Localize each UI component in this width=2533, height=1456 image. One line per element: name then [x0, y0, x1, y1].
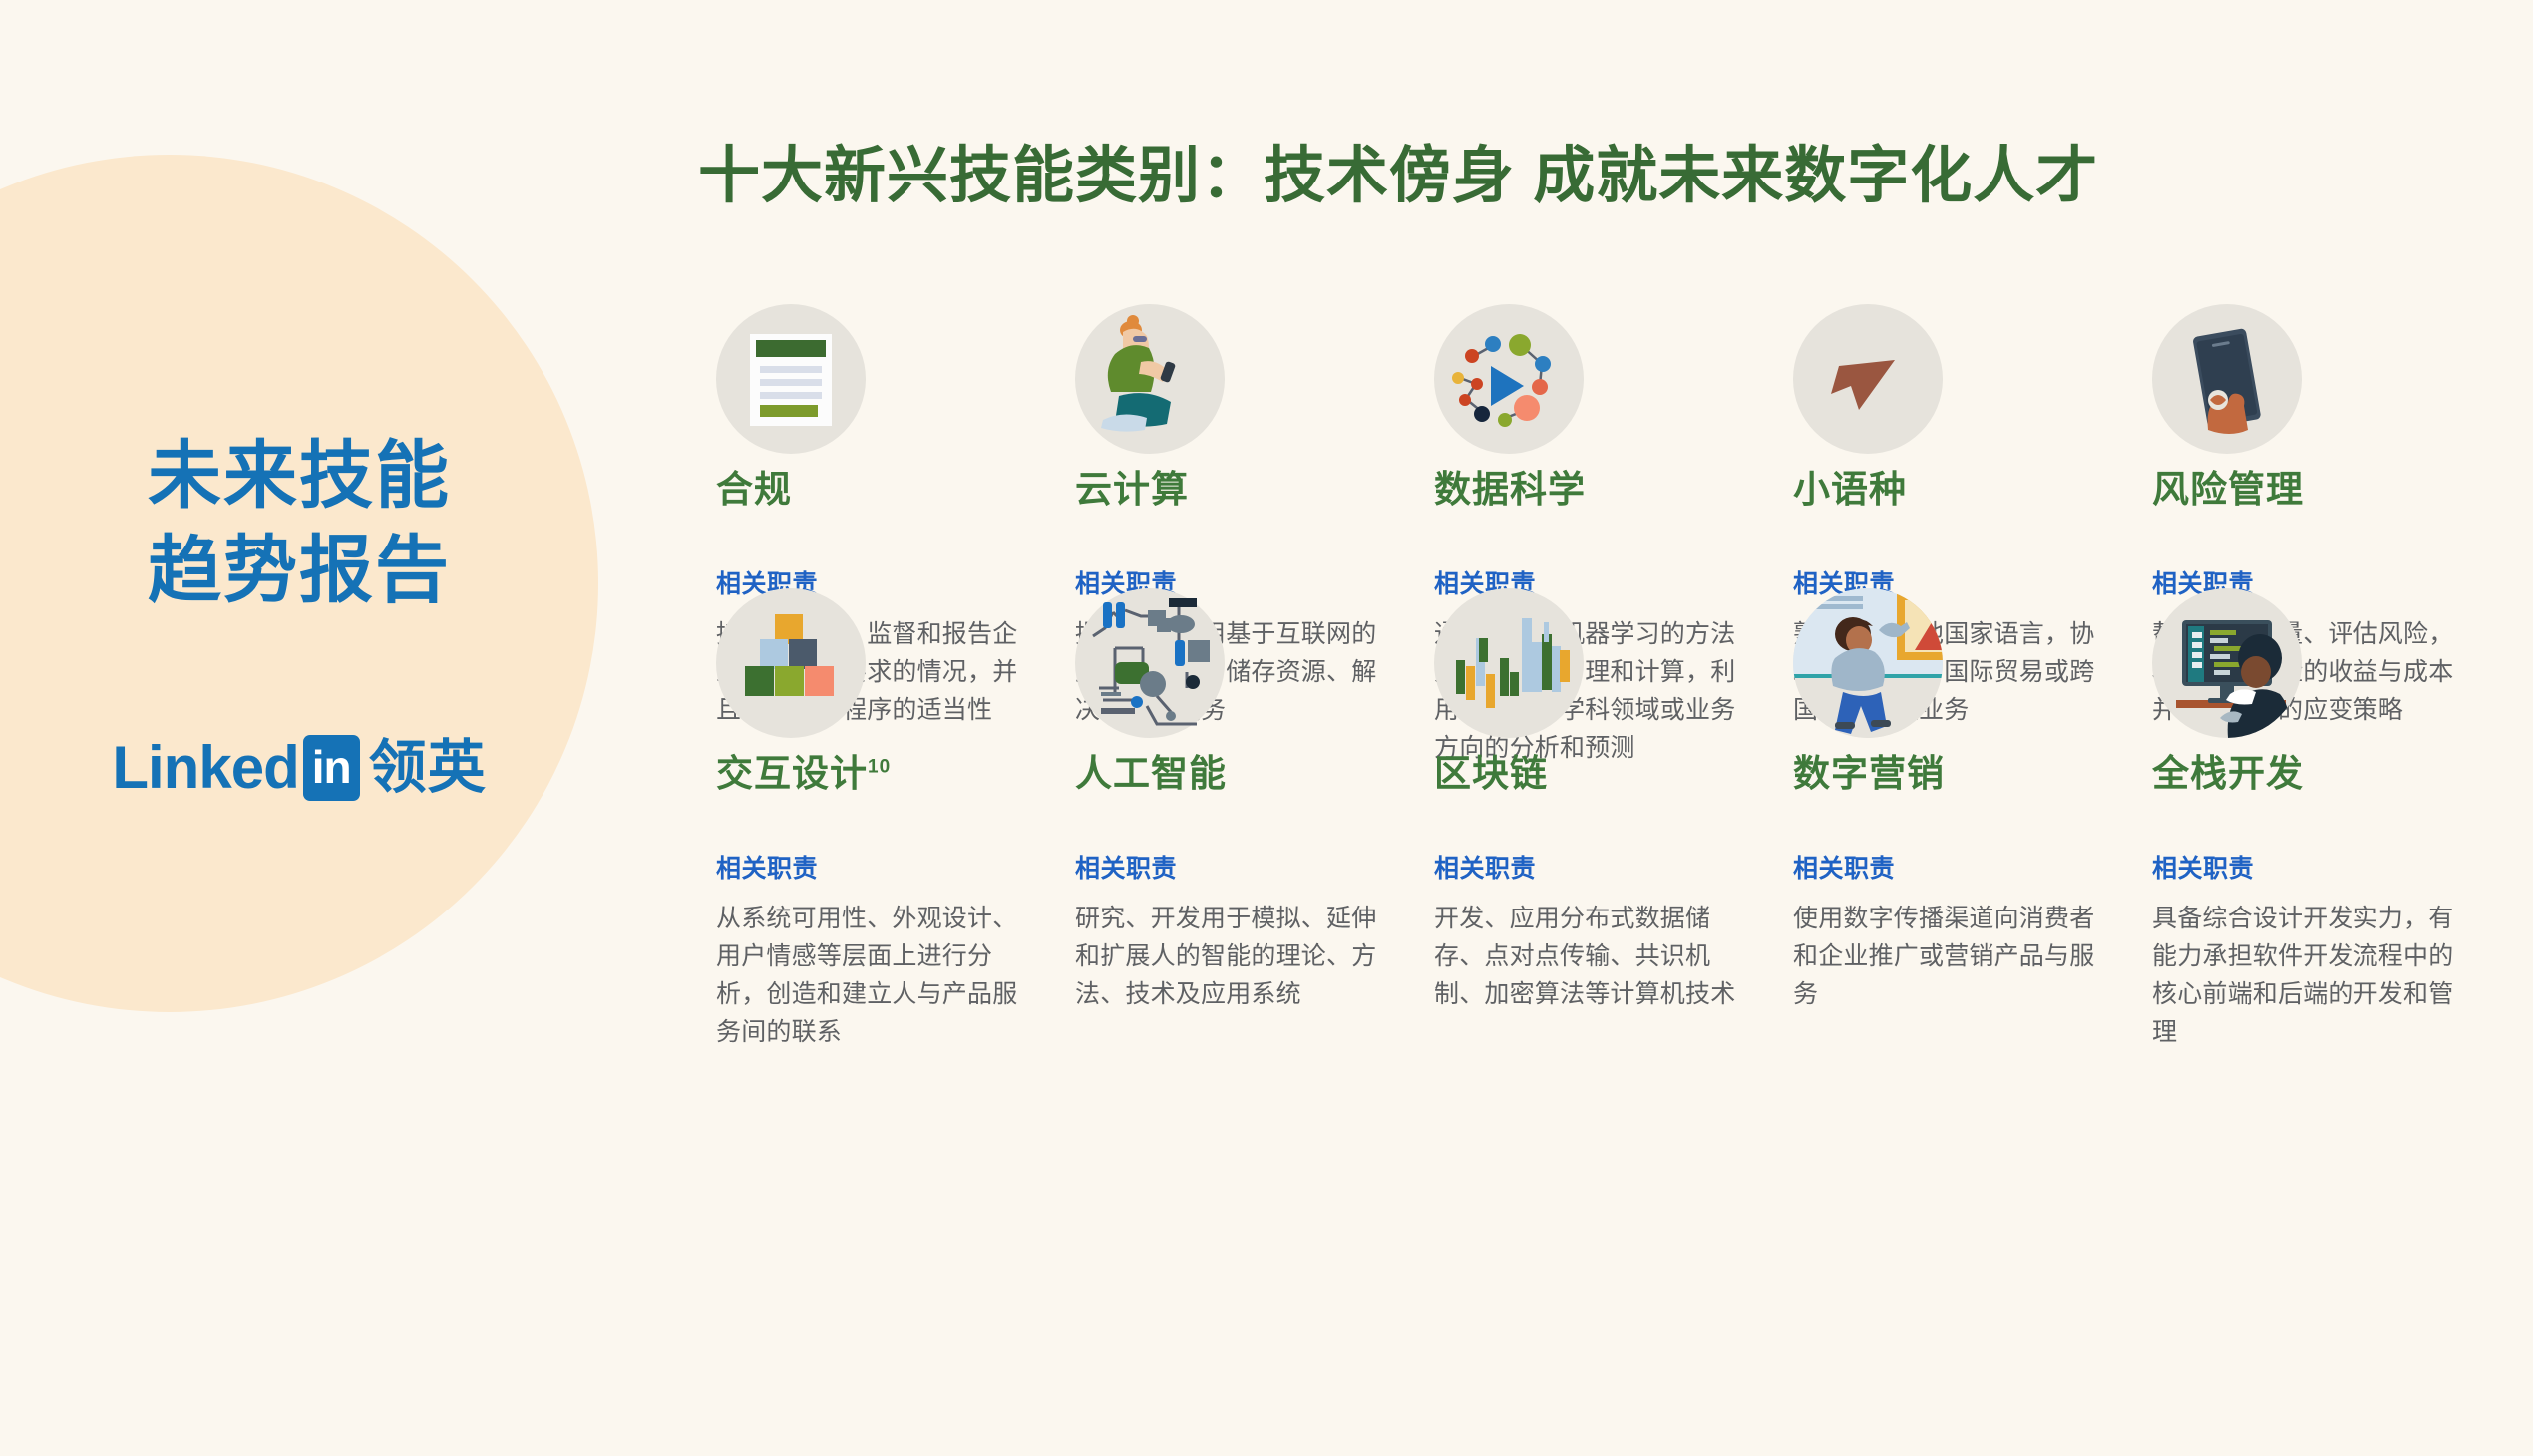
skill-title: 交互设计10	[716, 754, 1055, 795]
linkedin-wordmark: Linked	[112, 738, 298, 798]
skill-title: 人工智能	[1075, 754, 1414, 795]
slide-heading: 十大新兴技能类别：技术傍身 成就未来数字化人才	[698, 125, 2453, 214]
responsibilities-label: 相关职责	[2152, 849, 2491, 885]
network-play-icon	[1434, 304, 1584, 454]
hand-phone-icon	[2152, 304, 2302, 454]
skill-title: 区块链	[1434, 754, 1773, 795]
linkedin-in-badge-icon: in	[303, 735, 360, 801]
responsibilities-label: 相关职责	[1434, 849, 1773, 885]
skill-card-minor-languages[interactable]: 小语种 相关职责 熟练掌握其他国家语言，协助开展外交、国际贸易或跨国公司治理业务	[1793, 304, 2132, 588]
report-title-line-1: 未来技能	[0, 429, 598, 524]
page-title: 未来技能 趋势报告	[0, 429, 598, 617]
skill-title: 数据科学	[1434, 470, 1773, 511]
responsibilities-label: 相关职责	[716, 849, 1055, 885]
skill-title: 云计算	[1075, 470, 1414, 511]
responsibilities-body: 使用数字传播渠道向消费者和企业推广或营销产品与服务	[1793, 900, 2102, 1013]
cursor-arrow-icon	[1793, 304, 1943, 454]
person-reading-icon	[1075, 304, 1225, 454]
skill-title: 合规	[716, 470, 1055, 511]
skill-card-artificial-intelligence[interactable]: 人工智能 相关职责 研究、开发用于模拟、延伸和扩展人的智能的理论、方法、技术及应…	[1075, 588, 1414, 873]
skill-card-risk-management[interactable]: 风险管理 相关职责 帮助企业度量、评估风险，权衡降低风险的收益与成本并制定相应的…	[2152, 304, 2491, 588]
skill-title: 数字营销	[1793, 754, 2132, 795]
linkedin-logo: Linked in 领英	[0, 735, 598, 801]
responsibilities-label: 相关职责	[1075, 849, 1414, 885]
responsibilities-label: 相关职责	[1793, 849, 2132, 885]
skills-grid: 合规 相关职责 持续地评价、监督和报告企业遵守监管要求的情况，并且优化监督程序的…	[716, 304, 2501, 873]
report-title-panel: 未来技能 趋势报告 Linked in 领英	[0, 429, 598, 801]
linkedin-chinese-name: 领英	[369, 739, 487, 797]
circuit-board-icon	[1075, 588, 1225, 738]
skill-title: 全栈开发	[2152, 754, 2491, 795]
presenter-person-icon	[1793, 588, 1943, 738]
responsibilities-body: 研究、开发用于模拟、延伸和扩展人的智能的理论、方法、技术及应用系统	[1075, 900, 1384, 1013]
skill-card-cloud-computing[interactable]: 云计算 相关职责 提供或者使用基于互联网的虚拟化计算、储存资源、解决方案或服务	[1075, 304, 1414, 588]
skill-card-full-stack-development[interactable]: 全栈开发 相关职责 具备综合设计开发实力，有能力承担软件开发流程中的核心前端和后…	[2152, 588, 2491, 873]
skill-title: 小语种	[1793, 470, 2132, 511]
skill-card-digital-marketing[interactable]: 数字营销 相关职责 使用数字传播渠道向消费者和企业推广或营销产品与服务	[1793, 588, 2132, 873]
document-form-icon	[716, 304, 866, 454]
skill-card-data-science[interactable]: 数据科学 相关职责 通过统计、机器学习的方法对数据进行管理和计算，利用数据进行学…	[1434, 304, 1773, 588]
skill-card-compliance[interactable]: 合规 相关职责 持续地评价、监督和报告企业遵守监管要求的情况，并且优化监督程序的…	[716, 304, 1055, 588]
report-title-line-2: 趋势报告	[0, 524, 598, 618]
color-blocks-icon	[716, 588, 866, 738]
developer-monitor-icon	[2152, 588, 2302, 738]
responsibilities-body: 从系统可用性、外观设计、用户情感等层面上进行分析，创造和建立人与产品服务间的联系	[716, 900, 1025, 1051]
slide-canvas: 未来技能 趋势报告 Linked in 领英 十大新兴技能类别：技术傍身 成就未…	[0, 0, 2533, 1456]
skill-card-blockchain[interactable]: 区块链 相关职责 开发、应用分布式数据储存、点对点传输、共识机制、加密算法等计算…	[1434, 588, 1773, 873]
skill-card-interaction-design[interactable]: 交互设计10 相关职责 从系统可用性、外观设计、用户情感等层面上进行分析，创造和…	[716, 588, 1055, 873]
bar-chart-icon	[1434, 588, 1584, 738]
responsibilities-body: 具备综合设计开发实力，有能力承担软件开发流程中的核心前端和后端的开发和管理	[2152, 900, 2461, 1051]
responsibilities-body: 开发、应用分布式数据储存、点对点传输、共识机制、加密算法等计算机技术	[1434, 900, 1743, 1013]
skill-title: 风险管理	[2152, 470, 2491, 511]
